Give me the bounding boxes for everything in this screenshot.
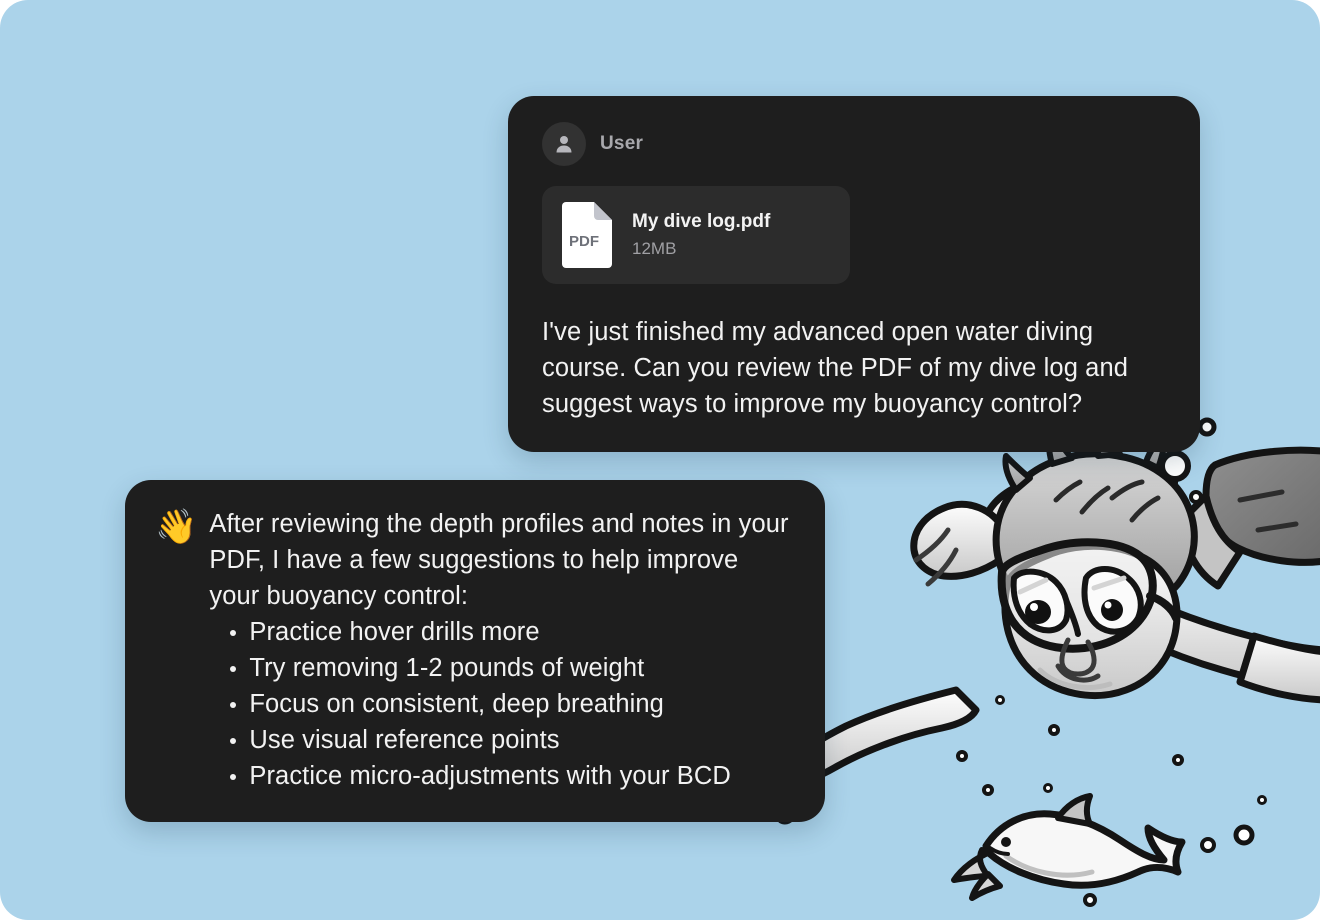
chat-conversation: User PDF My dive log.pdf 12MB I've just … — [0, 0, 1320, 920]
assistant-intro-text: After reviewing the depth profiles and n… — [209, 506, 795, 614]
waving-hand-icon: 👋 — [155, 508, 197, 546]
assistant-message-bubble: 👋 After reviewing the depth profiles and… — [125, 480, 825, 822]
user-message-bubble: User PDF My dive log.pdf 12MB I've just … — [508, 96, 1200, 452]
page-root: User PDF My dive log.pdf 12MB I've just … — [0, 0, 1320, 920]
suggestions-list: Practice hover drills more Try removing … — [209, 614, 795, 794]
user-message-header: User — [542, 122, 1166, 166]
list-item: Use visual reference points — [225, 722, 795, 758]
attachment-card[interactable]: PDF My dive log.pdf 12MB — [542, 186, 850, 284]
attachment-file-name: My dive log.pdf — [632, 211, 770, 233]
person-icon — [542, 122, 586, 166]
list-item: Practice hover drills more — [225, 614, 795, 650]
attachment-file-size: 12MB — [632, 239, 770, 259]
svg-text:PDF: PDF — [569, 233, 599, 250]
pdf-file-icon: PDF — [560, 202, 614, 268]
list-item: Focus on consistent, deep breathing — [225, 686, 795, 722]
list-item: Try removing 1-2 pounds of weight — [225, 650, 795, 686]
user-message-text: I've just finished my advanced open wate… — [542, 314, 1166, 422]
list-item: Practice micro-adjustments with your BCD — [225, 758, 795, 794]
user-sender-name: User — [600, 133, 643, 155]
